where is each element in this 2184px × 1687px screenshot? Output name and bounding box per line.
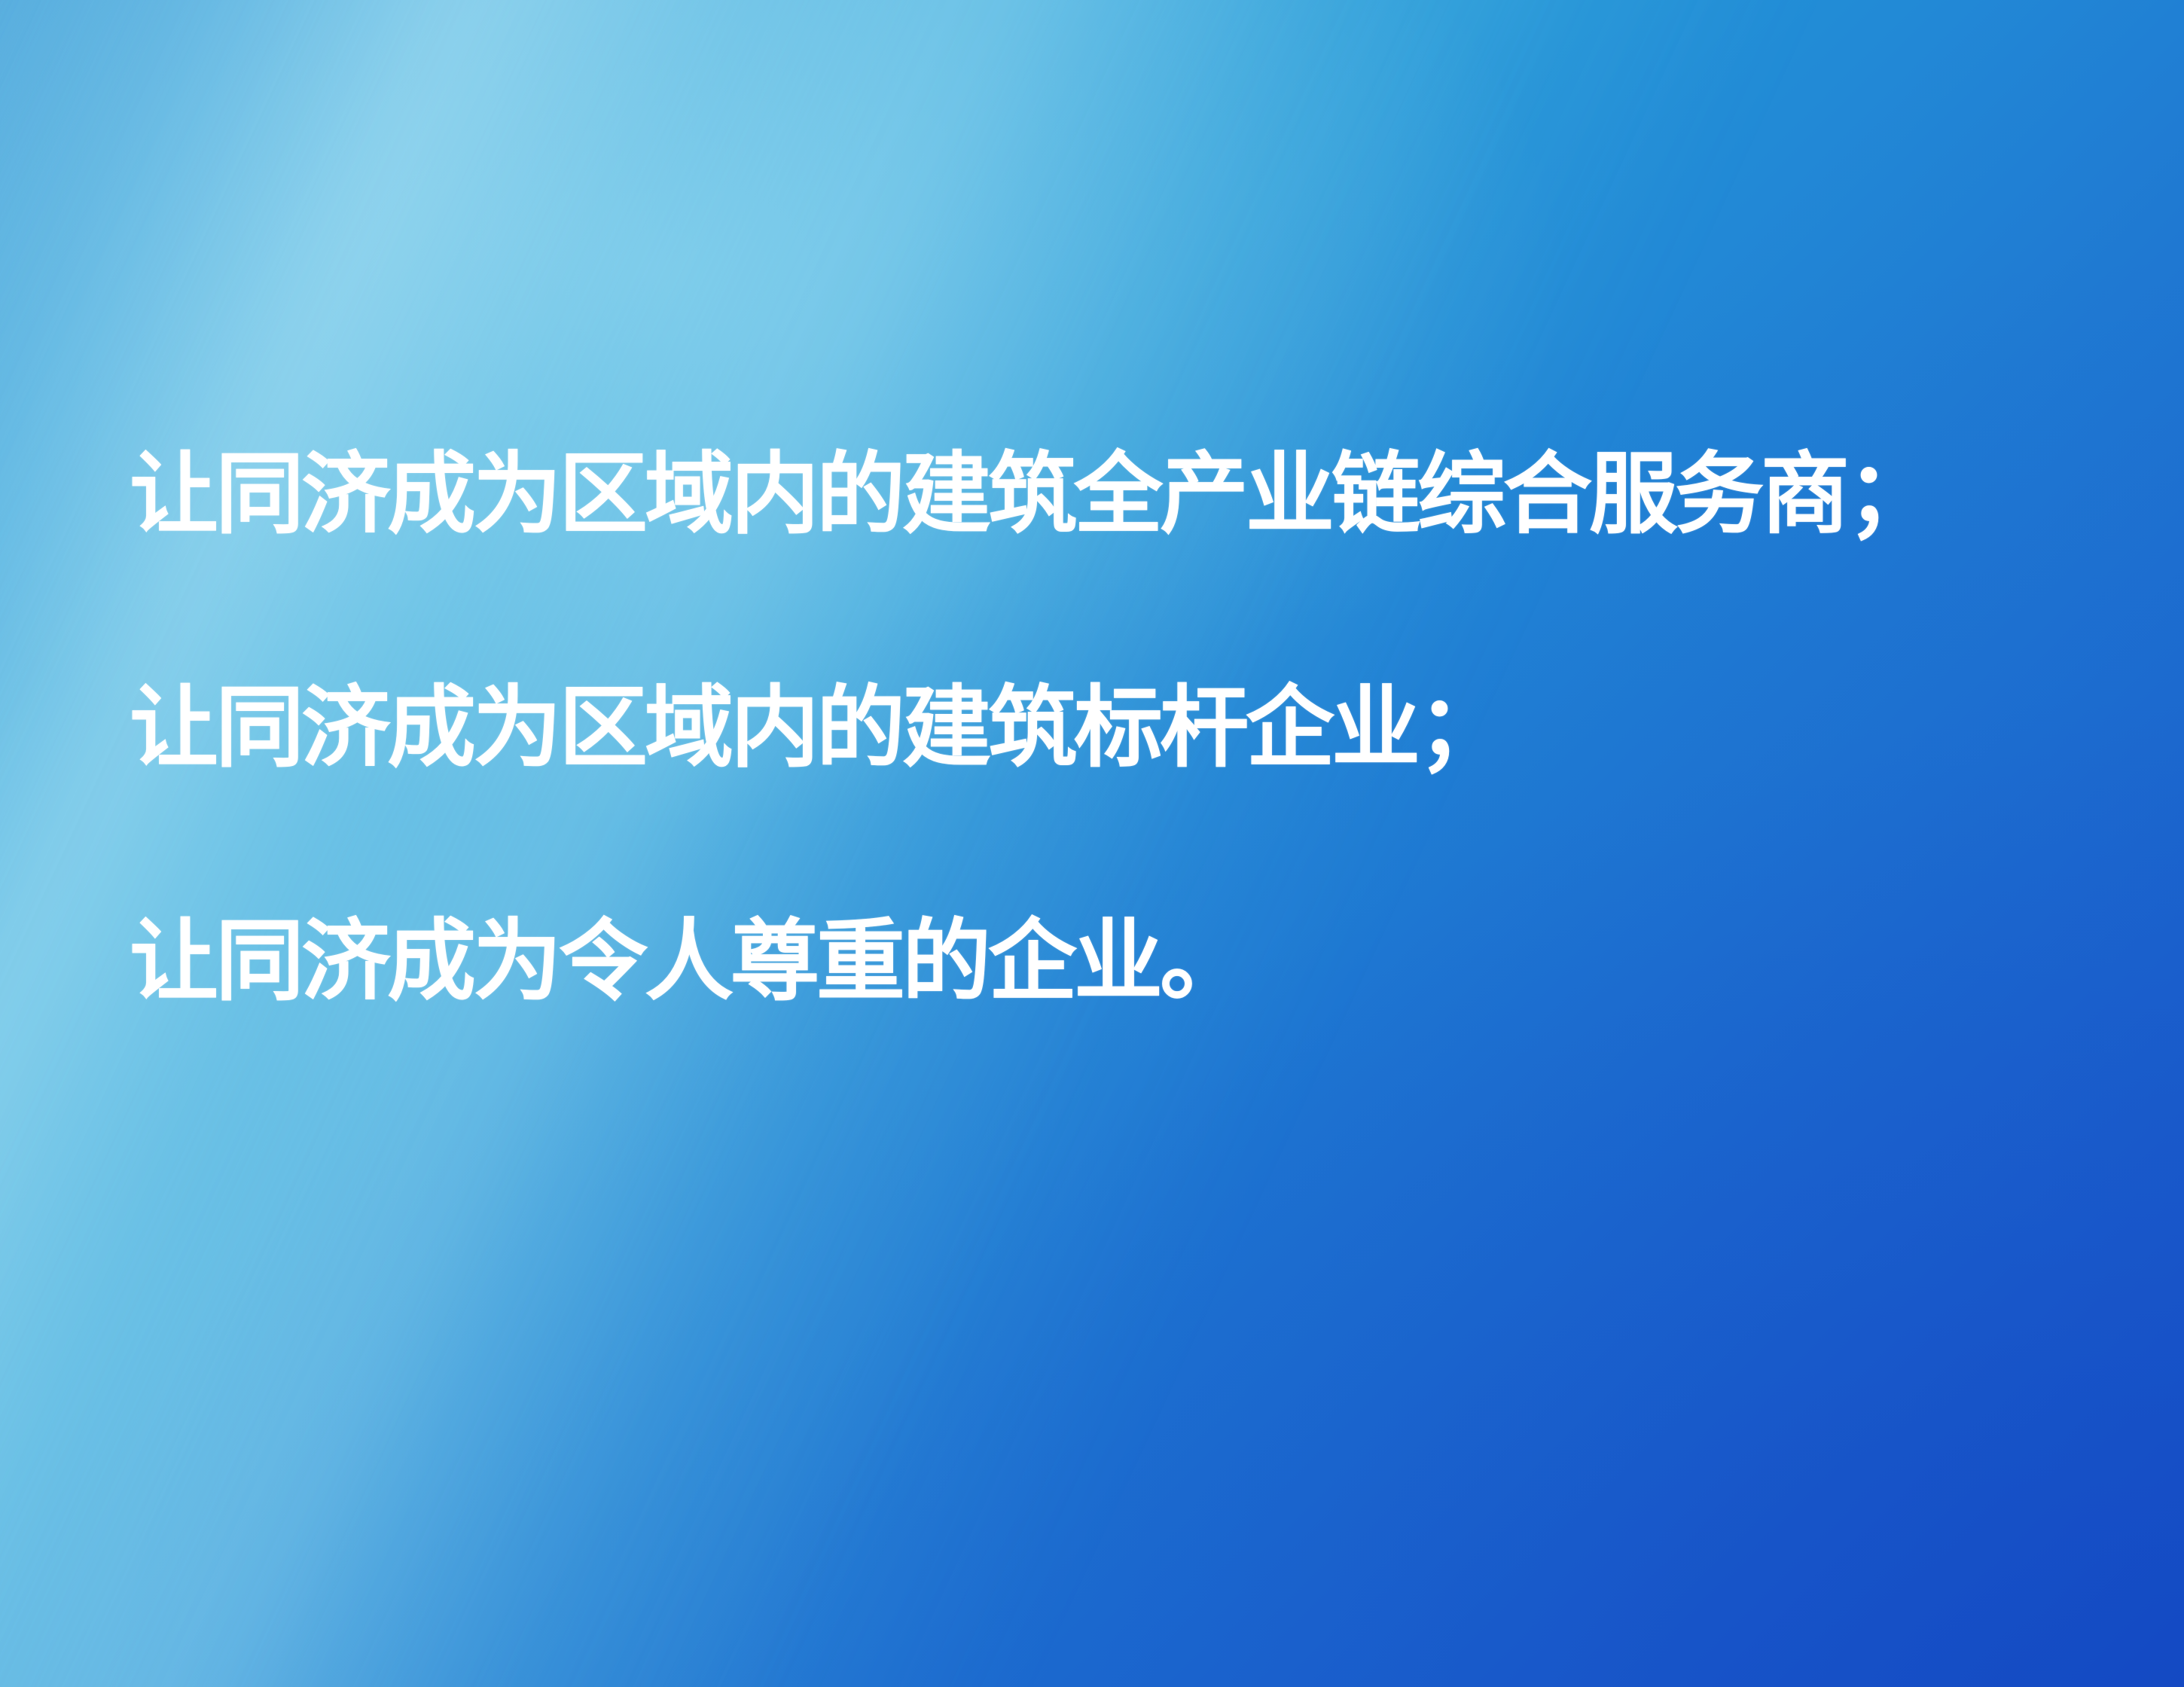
vision-line-2: 让同济成为区域内的建筑标杆企业；	[130, 682, 2088, 773]
vision-line-3: 让同济成为令人尊重的企业。	[130, 916, 2088, 1006]
presentation-slide: 让同济成为区域内的建筑全产业链综合服务商； 让同济成为区域内的建筑标杆企业； 让…	[0, 0, 2184, 1687]
vision-line-1: 让同济成为区域内的建筑全产业链综合服务商；	[130, 449, 2088, 539]
vision-statement-block: 让同济成为区域内的建筑全产业链综合服务商； 让同济成为区域内的建筑标杆企业； 让…	[130, 449, 2088, 1006]
